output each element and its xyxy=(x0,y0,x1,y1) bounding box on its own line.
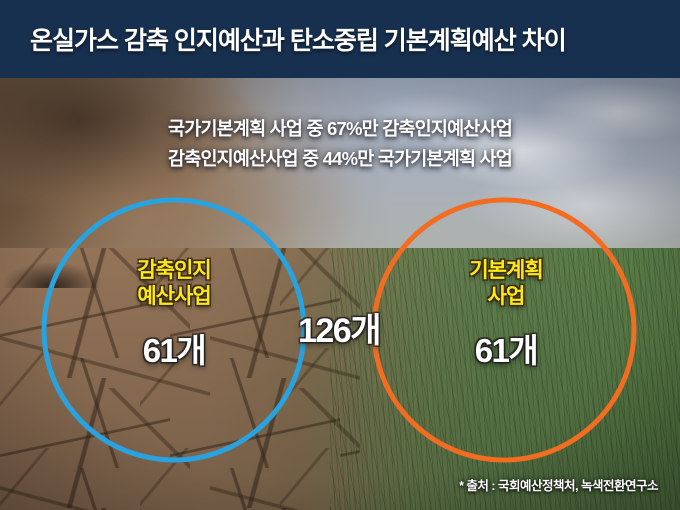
venn-intersection-count: 126개 xyxy=(279,303,399,352)
venn-left-label-line-2: 예산사업 xyxy=(64,284,284,310)
infographic-canvas: 온실가스 감축 인지예산과 탄소중립 기본계획예산 차이 국가기본계획 사업 중… xyxy=(0,0,680,510)
venn-right-set: 기본계획 사업 61개 xyxy=(396,258,616,372)
venn-left-count: 61개 xyxy=(64,324,284,372)
venn-diagram xyxy=(0,0,680,510)
venn-right-label-line-1: 기본계획 xyxy=(396,258,616,284)
venn-left-label-line-1: 감축인지 xyxy=(64,258,284,284)
venn-right-label-line-2: 사업 xyxy=(396,284,616,310)
venn-right-label: 기본계획 사업 xyxy=(396,258,616,310)
source-note: * 출처 : 국회예산정책처, 녹색전환연구소 xyxy=(459,475,658,494)
venn-intersection: 126개 xyxy=(279,303,399,352)
venn-left-set: 감축인지 예산사업 61개 xyxy=(64,258,284,372)
venn-left-label: 감축인지 예산사업 xyxy=(64,258,284,310)
venn-right-count: 61개 xyxy=(396,324,616,372)
